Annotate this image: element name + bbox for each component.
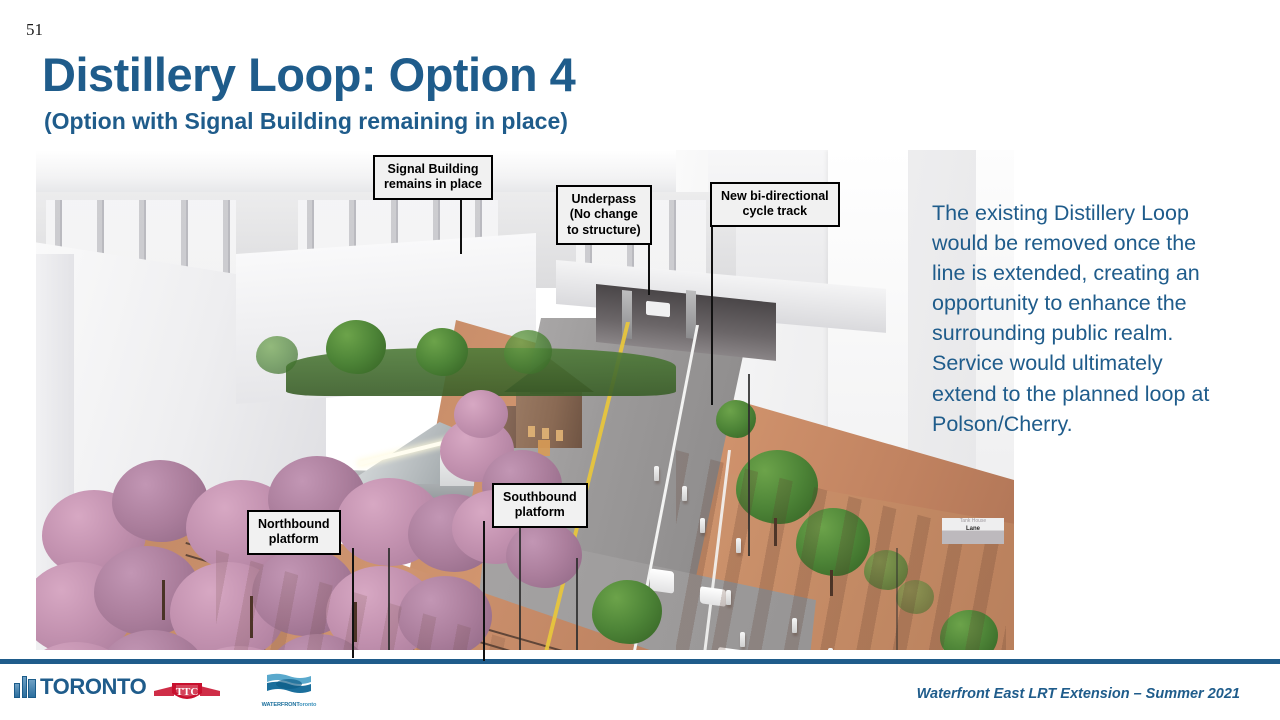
waterfront-wordmark: WATERFRONToronto: [262, 702, 317, 708]
footer-caption: Waterfront East LRT Extension – Summer 2…: [917, 686, 1240, 702]
leader-line-cycle-track: [711, 220, 713, 405]
distillery-loop-rendering: 🚲: [36, 150, 1014, 650]
signal-building-window: [542, 428, 549, 439]
background-tree: [326, 320, 386, 374]
pedestrian-figure: [682, 486, 687, 501]
slide-number: 51: [26, 20, 43, 40]
background-tree: [256, 336, 298, 374]
leader-line-underpass: [648, 243, 650, 295]
street-sign-line-2: Lane: [942, 525, 1004, 534]
foreground-tree: [592, 580, 662, 644]
waterfront-toronto-logo: WATERFRONToronto: [258, 672, 320, 712]
catenary-pole: [576, 558, 578, 650]
ttc-logo: TTC: [152, 678, 222, 706]
catenary-pole: [388, 548, 390, 650]
light-pole: [748, 374, 750, 556]
signal-building-window: [528, 426, 535, 437]
callout-underpass: Underpass (No change to structure): [556, 185, 652, 245]
body-paragraph: The existing Distillery Loop would be re…: [932, 198, 1222, 439]
underpass-vehicle: [646, 301, 670, 318]
background-tree: [416, 328, 468, 376]
cyclist-figure: [740, 632, 745, 647]
city-of-toronto-logo: TORONTO: [14, 676, 146, 698]
waterfront-wordmark-b: oronto: [299, 702, 316, 708]
street-sign-line-1: Tank House: [942, 518, 1004, 525]
callout-cycle-track: New bi-directional cycle track: [710, 182, 840, 227]
pedestrian-figure: [792, 618, 797, 633]
leader-line-northbound: [352, 548, 354, 658]
toronto-buildings-icon: [14, 676, 36, 698]
pedestrian-figure: [736, 538, 741, 553]
pedestrian-figure: [700, 518, 705, 533]
callout-signal-building: Signal Building remains in place: [373, 155, 493, 200]
leader-line-signal-building: [460, 199, 462, 254]
svg-text:TTC: TTC: [176, 686, 199, 698]
street-sign-tank-house-lane: Tank House Lane: [942, 518, 1004, 544]
page-subtitle: (Option with Signal Building remaining i…: [44, 108, 568, 135]
pedestrian-figure: [726, 590, 731, 605]
light-pole: [896, 548, 898, 650]
callout-southbound-platform: Southbound platform: [492, 483, 588, 528]
page-title: Distillery Loop: Option 4: [42, 47, 575, 102]
ttc-shield-icon: TTC: [152, 678, 222, 706]
pedestrian-figure: [654, 466, 659, 481]
callout-northbound-platform: Northbound platform: [247, 510, 341, 555]
toronto-wordmark: TORONTO: [40, 677, 146, 698]
waterfront-wordmark-a: WATERFRONT: [262, 702, 300, 708]
waterfront-wave-icon: [264, 672, 314, 700]
background-tree: [504, 330, 552, 374]
signal-building-window: [556, 430, 563, 441]
cherry-blossom-tree: [454, 390, 508, 438]
street-tree: [716, 400, 756, 438]
footer-divider: [0, 659, 1280, 664]
cherry-blossom-tree: [506, 522, 582, 588]
pedestrian-figure: [828, 648, 833, 650]
catenary-pole: [519, 510, 521, 650]
leader-line-southbound: [483, 521, 485, 661]
